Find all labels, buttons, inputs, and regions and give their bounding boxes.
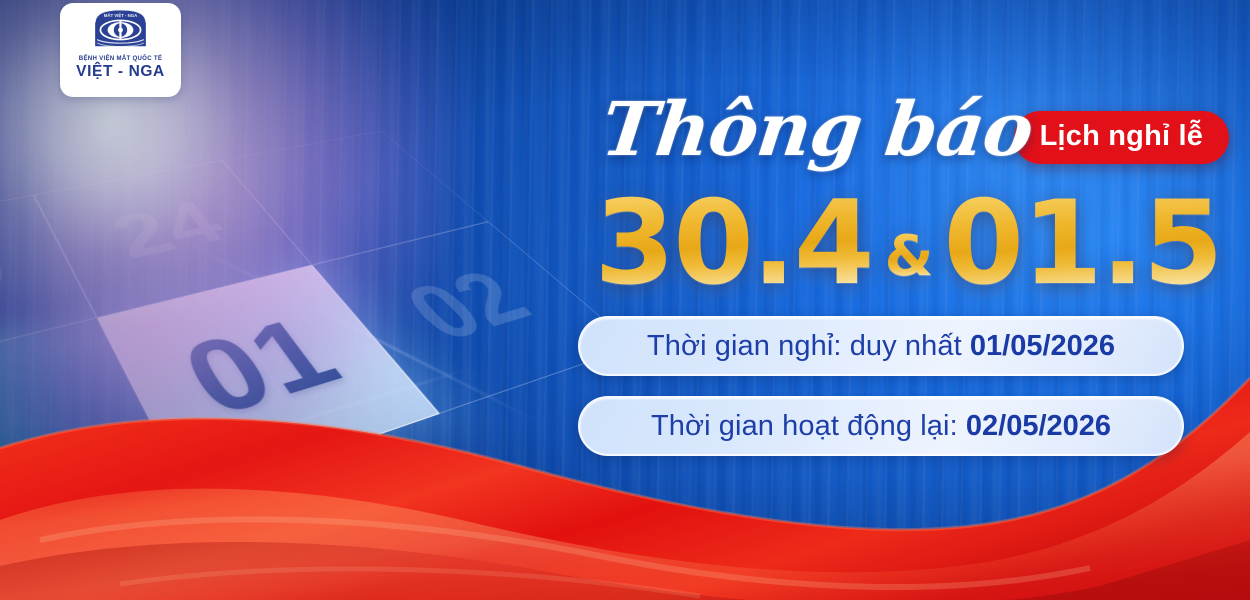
headline-script-text: Thông báo [597,93,1036,173]
info-pill-value: 02/05/2026 [966,410,1111,442]
eye-emblem-icon: MẮT VIỆT - NGA [89,8,152,52]
info-pill-text: Thời gian hoạt động lại: 02/05/2026 [651,410,1111,443]
holiday-announcement-banner: 30 24 01 02 [0,0,1250,600]
info-pill-value: 01/05/2026 [970,330,1115,362]
info-pill-reopen-date: Thời gian hoạt động lại: 02/05/2026 [578,396,1184,456]
holiday-schedule-badge: Lịch nghỉ lễ [1014,111,1230,164]
info-pill-label: Thời gian hoạt động lại: [651,410,966,442]
info-pill-text: Thời gian nghỉ: duy nhất 01/05/2026 [647,330,1115,363]
announcement-content: Thông báo Lịch nghỉ lễ 30.4 & 01.5 Thời … [560,0,1250,600]
logo-name: VIỆT - NGA [76,63,165,81]
hospital-logo[interactable]: MẮT VIỆT - NGA BỆNH VIỆN MẮT QUỐC TẾ VIỆ… [60,3,181,97]
svg-text:MẮT VIỆT - NGA: MẮT VIỆT - NGA [104,13,137,18]
info-pill-label: Thời gian nghỉ: duy nhất [647,330,970,362]
date-first: 30.4 [594,186,872,302]
date-second: 01.5 [943,186,1221,302]
headline-row: Thông báo Lịch nghỉ lễ [602,88,1242,178]
big-date-display: 30.4 & 01.5 [578,186,1238,296]
info-pill-holiday-date: Thời gian nghỉ: duy nhất 01/05/2026 [578,316,1184,376]
date-separator: & [885,229,934,285]
logo-subtitle: BỆNH VIỆN MẮT QUỐC TẾ [79,55,162,62]
